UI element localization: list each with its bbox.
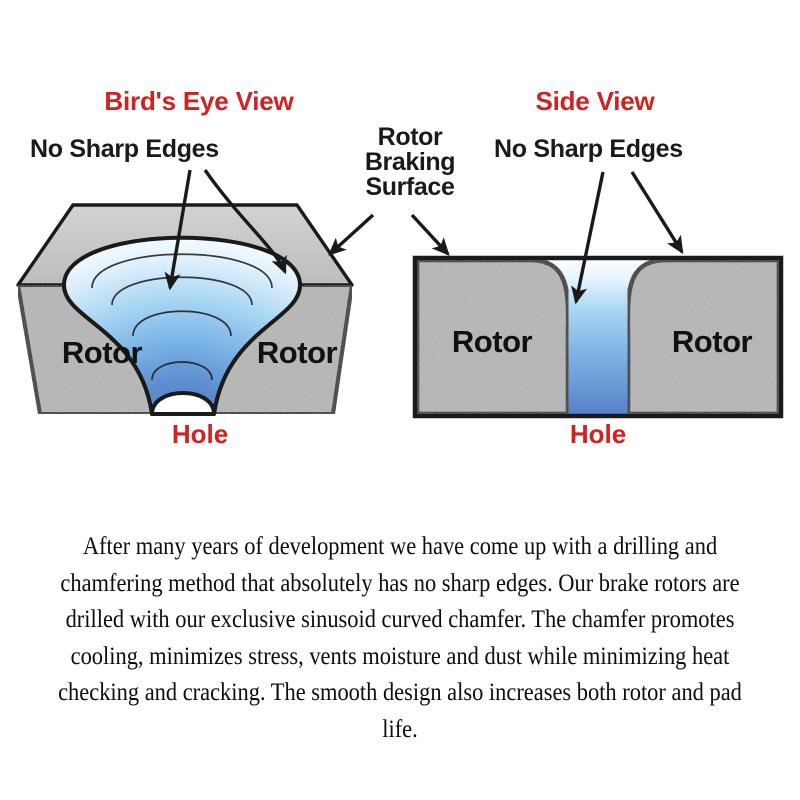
figure-canvas: Rotor Rotor Rotor Rotor xyxy=(0,0,800,800)
label-hole-left: Hole xyxy=(140,419,260,450)
arrow-no-sharp-right-b xyxy=(632,172,682,252)
label-rotor-braking-line1: Rotor xyxy=(345,125,475,150)
arrow-braking-surface-right xyxy=(412,215,448,254)
birds-eye-block: Rotor Rotor xyxy=(18,205,352,414)
label-no-sharp-edges-left: No Sharp Edges xyxy=(30,135,219,164)
rotor-word-side-right: Rotor xyxy=(672,324,753,359)
rotor-chamfer-diagrams: Rotor Rotor Rotor Rotor xyxy=(0,0,800,500)
side-view-block: Rotor Rotor xyxy=(415,258,781,416)
label-rotor-braking-line2: Braking xyxy=(345,150,475,175)
label-hole-right: Hole xyxy=(538,419,658,450)
label-no-sharp-edges-right: No Sharp Edges xyxy=(494,135,683,164)
rotor-word-left-front: Rotor xyxy=(62,335,143,370)
arrow-braking-surface-left xyxy=(330,215,373,254)
rotor-word-side-left: Rotor xyxy=(452,324,533,359)
label-rotor-braking-surface: Rotor Braking Surface xyxy=(345,125,475,200)
rotor-word-right-front: Rotor xyxy=(257,335,338,370)
birds-eye-view-title: Bird's Eye View xyxy=(72,86,326,117)
side-view-title: Side View xyxy=(500,86,690,117)
label-rotor-braking-line3: Surface xyxy=(345,175,475,200)
caption-paragraph: After many years of development we have … xyxy=(55,528,745,747)
